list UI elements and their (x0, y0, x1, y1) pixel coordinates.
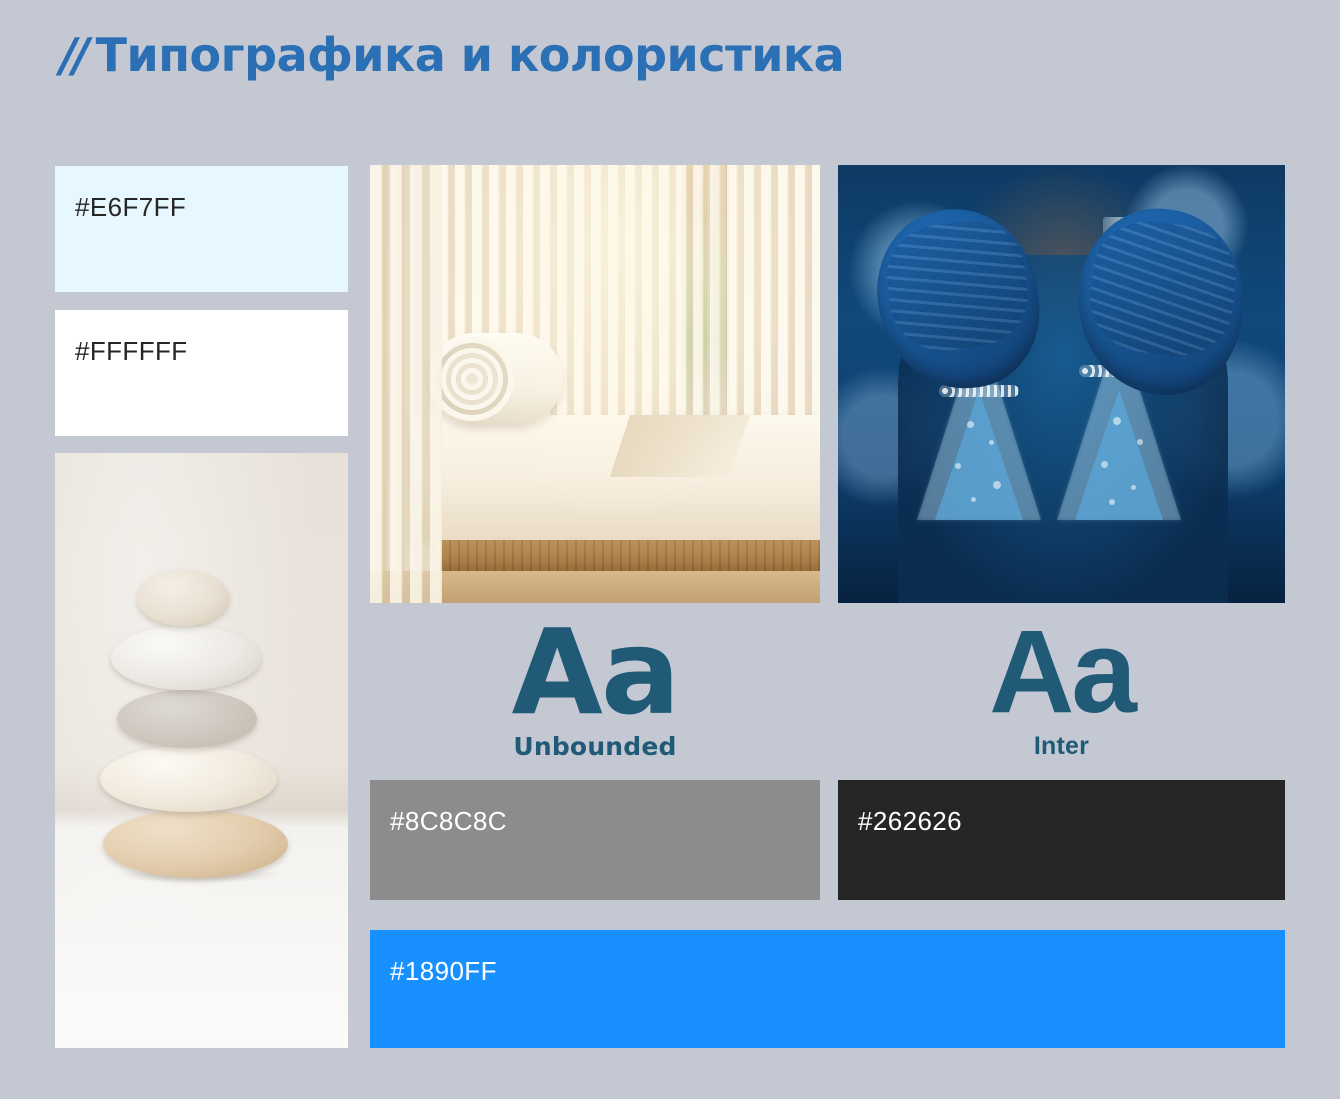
color-swatch-ffffff[interactable]: #FFFFFF (55, 310, 348, 436)
stone-middle (117, 690, 257, 748)
stone-bottom (103, 810, 288, 878)
foreground-curtain (370, 165, 442, 603)
flask-bubble (971, 497, 976, 502)
image-lab-flasks (838, 165, 1285, 603)
flask-bubble (989, 440, 994, 445)
image-zen-stones (55, 453, 348, 1048)
font-sample-inter: Aa Inter (838, 616, 1285, 761)
color-swatch-8c8c8c[interactable]: #8C8C8C (370, 780, 820, 900)
flask-bubble (1109, 499, 1115, 505)
color-swatch-label: #1890FF (390, 956, 497, 987)
color-swatch-262626[interactable]: #262626 (838, 780, 1285, 900)
font-sample-name: Unbounded (370, 732, 820, 761)
font-sample-glyphs: Aa (838, 616, 1285, 728)
flask-bubble (1137, 439, 1143, 445)
font-sample-unbounded: Aa Unbounded (370, 616, 820, 761)
page-title-text: Типографика и колористика (96, 28, 845, 82)
image-spa-daybed (370, 165, 820, 603)
color-swatch-1890ff[interactable]: #1890FF (370, 930, 1285, 1048)
title-slashes-icon: // (60, 28, 86, 82)
flask-liquid (1075, 390, 1163, 520)
flask-liquid (935, 390, 1023, 520)
flask-bubble (967, 421, 974, 428)
flask-bubble (993, 481, 1001, 489)
stone-top (137, 570, 229, 626)
color-swatch-label: #8C8C8C (390, 806, 507, 837)
color-swatch-e6f7ff[interactable]: #E6F7FF (55, 166, 348, 292)
color-swatch-label: #FFFFFF (75, 336, 188, 367)
flask-bubble (1131, 485, 1136, 490)
flask-bubble (1113, 417, 1121, 425)
color-swatch-label: #E6F7FF (75, 192, 186, 223)
page-title: //Типографика и колористика (60, 28, 844, 82)
stone-fourth (100, 746, 277, 812)
font-sample-name: Inter (838, 732, 1285, 761)
color-swatch-label: #262626 (858, 806, 962, 837)
stone-second (111, 626, 261, 690)
flask-bubble (955, 463, 961, 469)
flask-bubble (1101, 461, 1108, 468)
font-sample-glyphs: Aa (370, 616, 820, 728)
